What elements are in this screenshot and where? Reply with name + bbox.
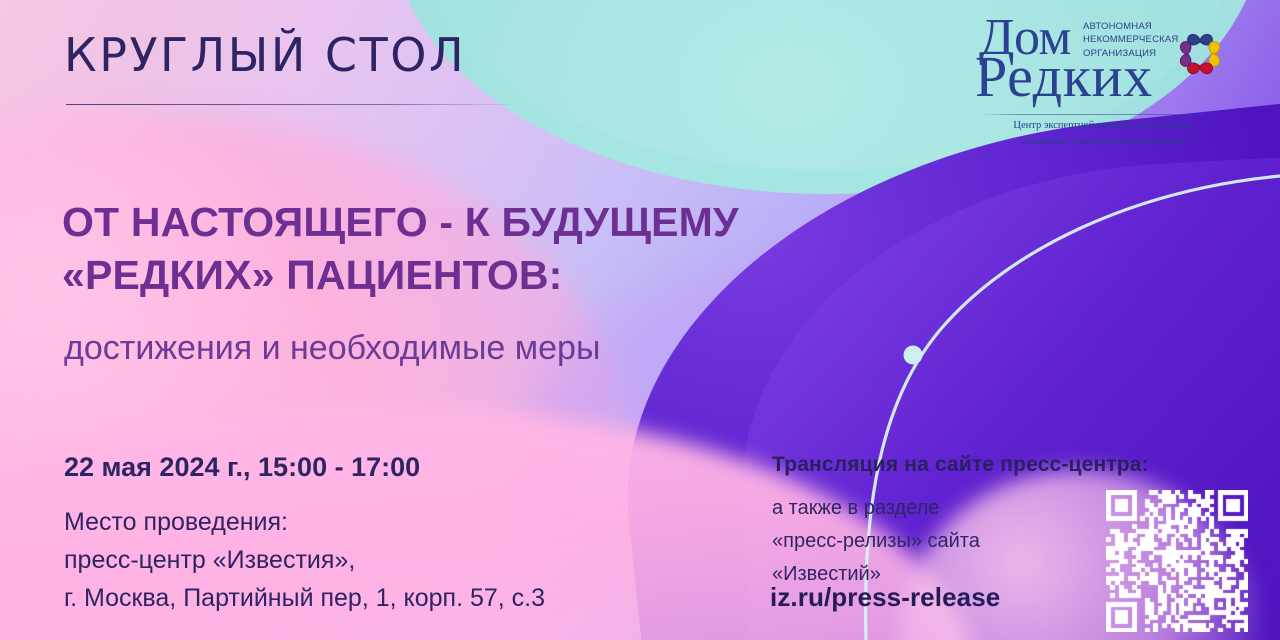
event-kicker: КРУГЛЫЙ СТОЛ <box>64 32 466 78</box>
title-line-1: ОТ НАСТОЯЩЕГО - К БУДУЩЕМУ <box>62 196 739 249</box>
page-subtitle: достижения и необходимые меры <box>64 328 600 369</box>
qr-code[interactable] <box>1106 490 1248 632</box>
broadcast-url-link[interactable]: iz.ru/press-release <box>770 582 1000 613</box>
event-venue: Место проведения: пресс-центр «Известия»… <box>64 503 545 617</box>
event-datetime: 22 мая 2024 г., 15:00 - 17:00 <box>64 452 420 483</box>
page-title: ОТ НАСТОЯЩЕГО - К БУДУЩЕМУ «РЕДКИХ» ПАЦИ… <box>62 196 739 303</box>
venue-line-1: пресс-центр «Известия», <box>64 541 545 579</box>
poster-canvas: КРУГЛЫЙ СТОЛ ОТ НАСТОЯЩЕГО - К БУДУЩЕМУ … <box>0 0 1280 640</box>
logo-org-type: АВТОНОМНАЯ НЕКОММЕРЧЕСКАЯ ОРГАНИЗАЦИЯ <box>1083 20 1178 60</box>
kicker-divider <box>66 104 518 105</box>
broadcast-line-2: «пресс-релизы» сайта <box>772 525 980 558</box>
logo-tagline: Центр экспертной помощи по вопросам, свя… <box>975 118 1233 150</box>
poster-content: КРУГЛЫЙ СТОЛ ОТ НАСТОЯЩЕГО - К БУДУЩЕМУ … <box>0 0 1280 640</box>
broadcast-line-1: а также в разделе <box>772 492 980 525</box>
tagline-line-1: Центр экспертной помощи по вопросам, <box>975 118 1233 134</box>
broadcast-details: а также в разделе «пресс-релизы» сайта «… <box>772 492 980 591</box>
title-line-2: «РЕДКИХ» ПАЦИЕНТОВ: <box>62 249 739 302</box>
org-line-1: АВТОНОМНАЯ <box>1083 20 1178 33</box>
clover-heart-icon <box>1171 26 1229 82</box>
logo-divider <box>981 114 1229 115</box>
org-line-2: НЕКОММЕРЧЕСКАЯ <box>1083 33 1178 46</box>
venue-label: Место проведения: <box>64 503 545 541</box>
organization-logo[interactable]: Дом Редких АВТОНОМНАЯ НЕКОММЕРЧЕСКАЯ ОРГ… <box>975 8 1233 136</box>
tagline-line-2: связанным с редкими заболеваниями <box>975 134 1233 150</box>
venue-line-2: г. Москва, Партийный пер, 1, корп. 57, с… <box>64 579 545 617</box>
broadcast-heading: Трансляция на сайте пресс-центра: <box>772 453 1149 477</box>
org-line-3: ОРГАНИЗАЦИЯ <box>1083 47 1178 60</box>
